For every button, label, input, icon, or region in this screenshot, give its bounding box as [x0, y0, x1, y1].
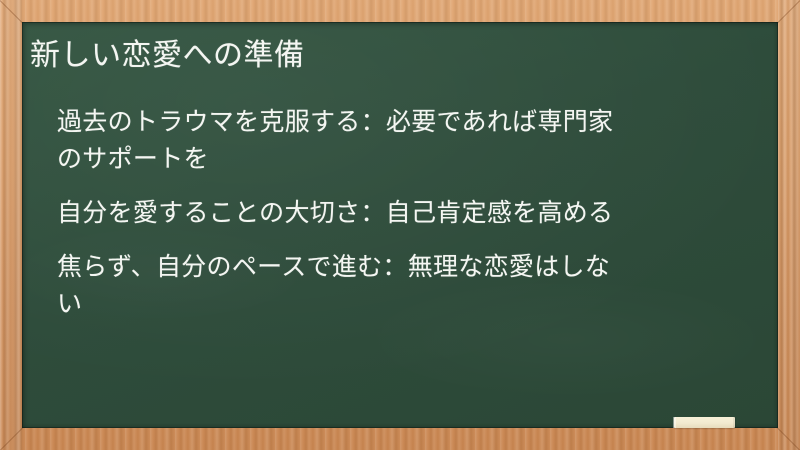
chalkboard-slide: 新しい恋愛への準備 過去のトラウマを克服する：必要であれば専門家 のサポートを …	[0, 0, 800, 450]
wood-grain-right	[778, 0, 800, 450]
bullet-item: 自分を愛することの大切さ：自己肯定感を高める	[57, 195, 757, 232]
chalk-stick-icon	[674, 417, 735, 428]
bullet-list: 過去のトラウマを克服する：必要であれば専門家 のサポートを 自分を愛することの大…	[57, 104, 757, 323]
frame-rail-left	[0, 0, 22, 450]
bullet-item: 過去のトラウマを克服する：必要であれば専門家 のサポートを	[57, 104, 757, 178]
slide-title: 新しい恋愛への準備	[30, 36, 750, 76]
bullet-item: 焦らず、自分のペースで進む：無理な恋愛はしな い	[57, 249, 757, 323]
bullet-text-line-1: 過去のトラウマを克服する：必要であれば専門家	[57, 108, 613, 136]
bullet-text-line-1: 自分を愛することの大切さ：自己肯定感を高める	[57, 199, 613, 227]
bullet-text-line-2: い	[57, 286, 757, 323]
frame-rail-right	[778, 0, 800, 450]
bullet-text-line-1: 焦らず、自分のペースで進む：無理な恋愛はしな	[57, 253, 610, 281]
wood-grain-left	[0, 0, 22, 450]
slide-content: 新しい恋愛への準備 過去のトラウマを克服する：必要であれば専門家 のサポートを …	[22, 22, 778, 428]
chalkboard-surface: 新しい恋愛への準備 過去のトラウマを克服する：必要であれば専門家 のサポートを …	[22, 22, 778, 428]
bullet-text-line-2: のサポートを	[57, 141, 757, 178]
